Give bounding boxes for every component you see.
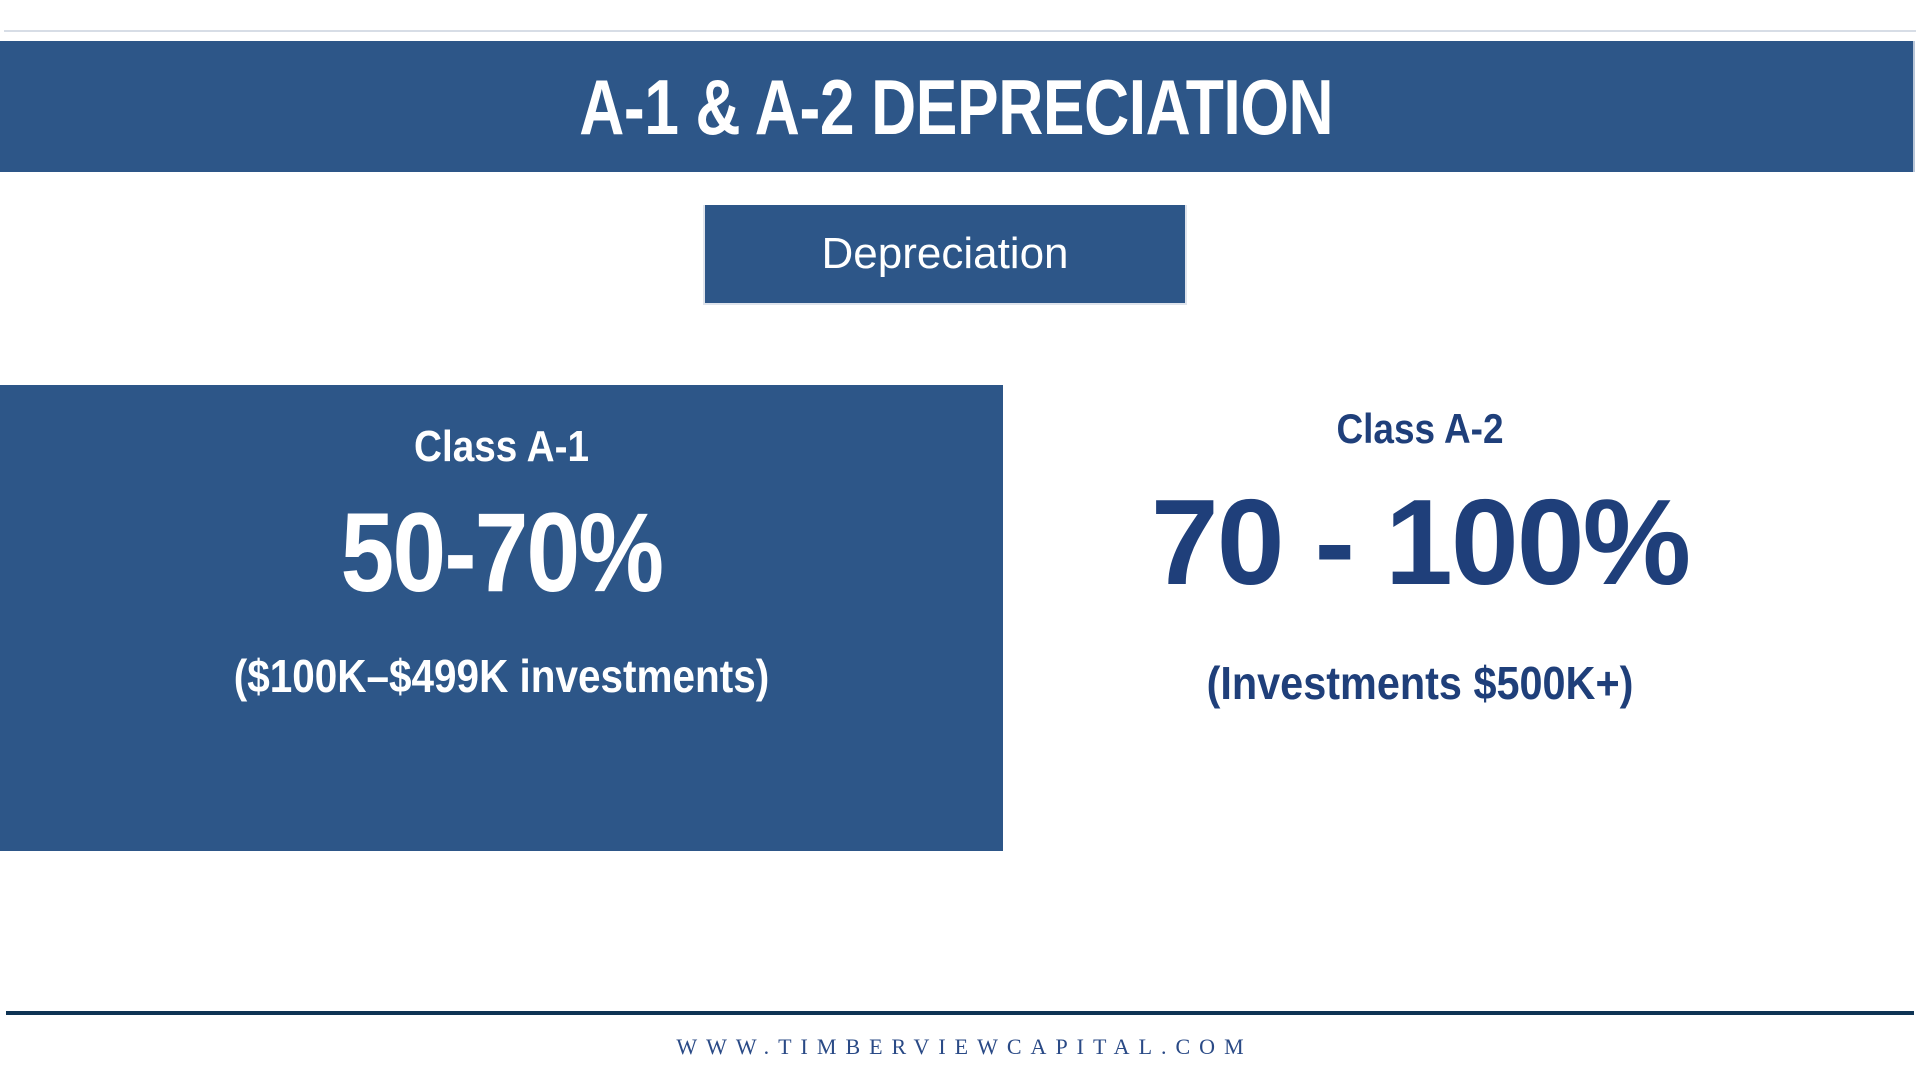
class-a2-panel: Class A-2 70 - 100% (Investments $500K+) <box>1003 385 1920 851</box>
page-title: A-1 & A-2 DEPRECIATION <box>580 68 1334 146</box>
class-a1-note: ($100K–$499K investments) <box>60 653 943 699</box>
footer-divider <box>6 1011 1914 1015</box>
class-a1-panel: Class A-1 50-70% ($100K–$499K investment… <box>0 385 1003 851</box>
title-banner: A-1 & A-2 DEPRECIATION <box>0 41 1915 172</box>
class-a2-note: (Investments $500K+) <box>1045 660 1796 706</box>
top-divider <box>4 30 1916 32</box>
footer-website-url: WWW.TIMBERVIEWCAPITAL.COM <box>0 1036 1920 1058</box>
class-a2-value: 70 - 100% <box>1003 433 1837 603</box>
section-chip-label: Depreciation <box>821 232 1068 276</box>
class-a1-value: 50-70% <box>70 497 933 609</box>
section-chip-depreciation: Depreciation <box>703 205 1187 305</box>
class-a1-heading: Class A-1 <box>60 425 943 469</box>
